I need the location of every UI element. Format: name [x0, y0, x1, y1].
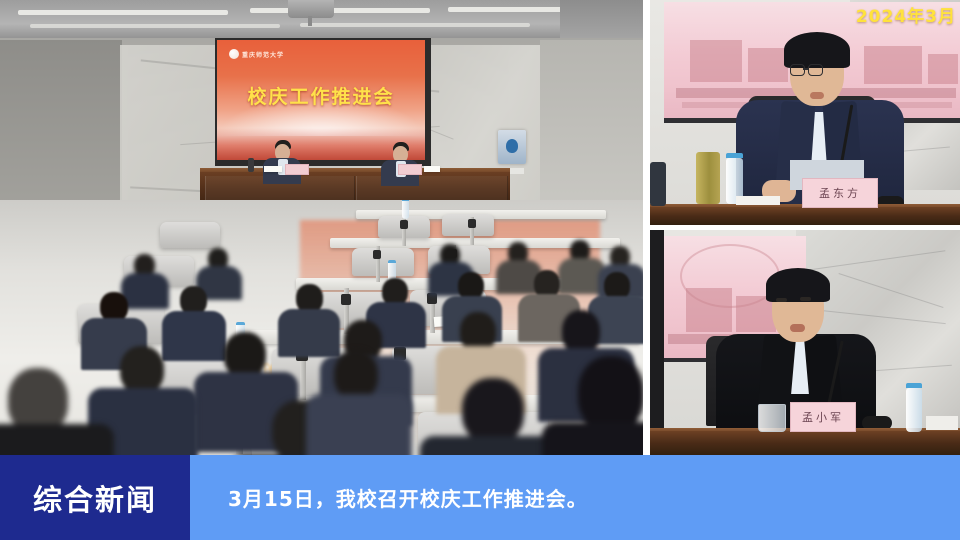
category-label: 综合新闻 — [33, 477, 157, 519]
document — [264, 166, 282, 172]
document — [736, 196, 780, 205]
category-block: 综合新闻 — [0, 455, 190, 540]
speaker-mouth — [790, 324, 805, 332]
water-bottle — [906, 388, 922, 432]
date-stamp: 2024年3月 — [856, 2, 956, 27]
projector-mount — [308, 16, 312, 26]
edge-object — [650, 162, 666, 206]
conference-table — [650, 207, 960, 225]
head-table-nameplate — [398, 164, 422, 175]
logo-text: 重庆师范大学 — [242, 50, 284, 59]
audience-area: 校庆工作推进 — [0, 200, 643, 455]
logo-mark — [229, 49, 239, 59]
ceiling-panel — [560, 0, 643, 40]
nameplate: 孟东方 — [802, 178, 878, 208]
speaker-hair — [766, 268, 830, 302]
news-collage-page: 重庆师范大学 校庆工作推进会 — [0, 0, 960, 540]
microphone-base — [248, 158, 254, 172]
ceiling-light-strip — [250, 8, 430, 13]
ceiling-light-strip — [30, 24, 280, 28]
nameplate: 孟小军 — [790, 402, 856, 432]
wall-emblem — [498, 130, 526, 164]
photo-speaker-meng-xiaojun: 孟小军 — [650, 230, 960, 455]
ceiling-light-strip — [18, 10, 228, 15]
speaker-eye — [800, 297, 811, 301]
speaker-hair — [784, 32, 850, 68]
left-edge-shadow — [650, 230, 664, 428]
chair-back — [352, 248, 414, 276]
conference-table — [650, 431, 960, 455]
water-bottle — [402, 200, 409, 219]
speaker-mouth — [810, 92, 824, 99]
speaker-eye — [776, 298, 787, 302]
chair-back — [160, 222, 220, 248]
screen-title-text: 校庆工作推进会 — [217, 82, 425, 109]
university-logo: 重庆师范大学 — [229, 49, 284, 59]
caption-text: 3月15日，我校召开校庆工作推进会。 — [228, 455, 928, 540]
photo-conference-hall: 重庆师范大学 校庆工作推进会 — [0, 0, 643, 455]
head-table-nameplate — [285, 164, 309, 175]
document — [926, 416, 958, 430]
photo-speaker-meng-dongfang: 2024年3月 孟东方 — [650, 0, 960, 225]
document — [424, 166, 440, 172]
tea-jar — [696, 152, 720, 204]
drinking-glass — [758, 404, 786, 432]
ceiling-light-strip — [300, 23, 530, 27]
